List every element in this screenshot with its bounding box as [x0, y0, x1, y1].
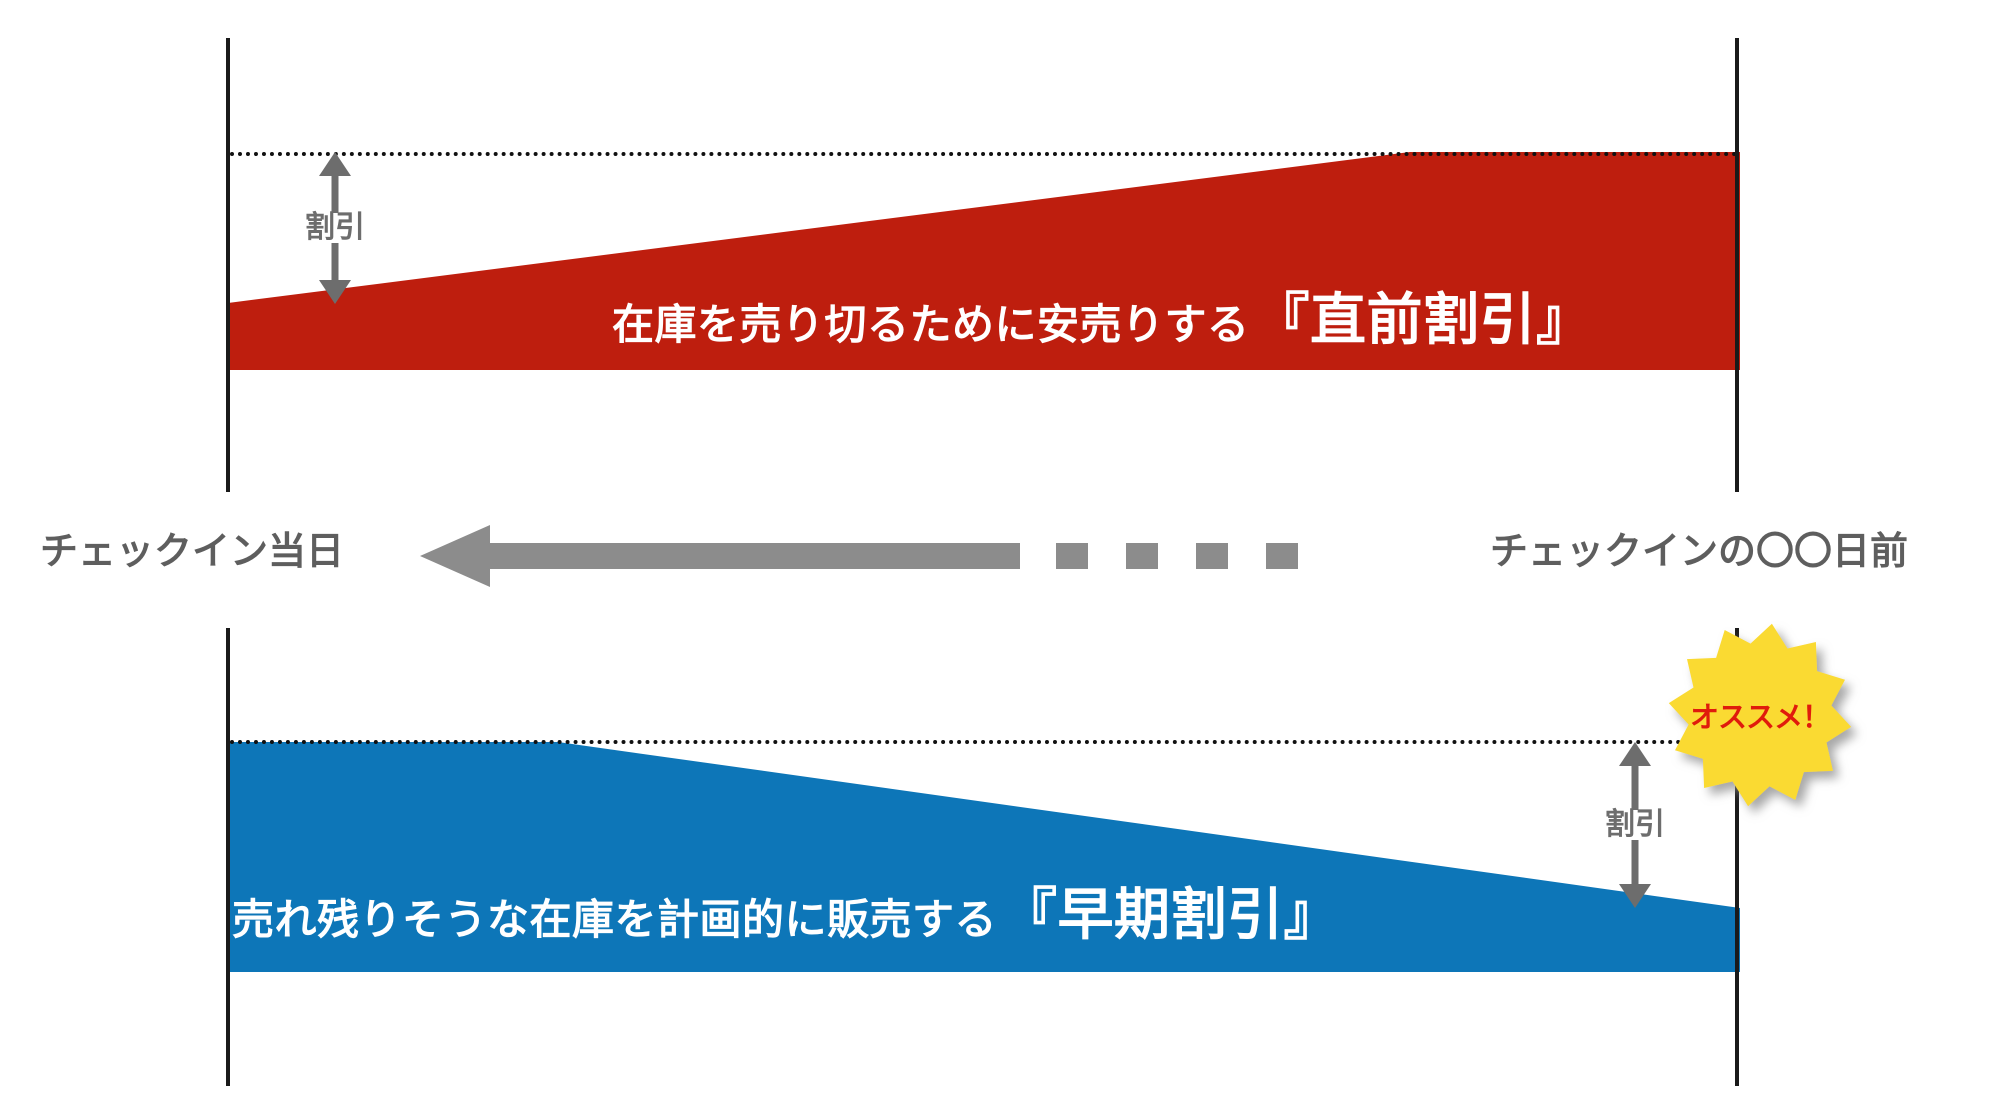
bottom-reference-line [230, 740, 1738, 744]
bottom-axis-left [226, 628, 230, 1086]
top-discount-measure: 割引 [305, 152, 365, 304]
top-axis-right [1735, 38, 1739, 492]
top-chart-caption: 在庫を売り切るために安売りする 『直前割引』 [612, 292, 1593, 348]
timeline-axis: チェックイン当日 チェックインの〇〇日前 [0, 505, 1999, 605]
top-reference-line [230, 152, 1738, 156]
top-discount-label: 割引 [303, 213, 367, 243]
bottom-discount-label: 割引 [1603, 810, 1667, 840]
recommended-badge: オススメ！ [1660, 615, 1860, 815]
timeline-label-left: チェックイン当日 [40, 533, 344, 571]
top-caption-lead: 在庫を売り切るために安売りする [612, 304, 1250, 346]
starburst-icon [1660, 615, 1860, 815]
top-caption-emphasis: 『直前割引』 [1254, 292, 1593, 348]
diagram-canvas: 割引 在庫を売り切るために安売りする 『直前割引』 チェックイン当日 チェックイ… [0, 0, 1999, 1120]
bottom-caption-emphasis: 『早期割引』 [1001, 887, 1340, 943]
bottom-chart-caption: 売れ残りそうな在庫を計画的に販売する 『早期割引』 [232, 887, 1340, 943]
timeline-label-right: チェックインの〇〇日前 [1490, 533, 1908, 571]
timeline-arrow-icon [420, 525, 1475, 587]
bottom-discount-measure: 割引 [1605, 742, 1665, 908]
bottom-caption-lead: 売れ残りそうな在庫を計画的に販売する [232, 899, 997, 941]
top-axis-left [226, 38, 230, 492]
